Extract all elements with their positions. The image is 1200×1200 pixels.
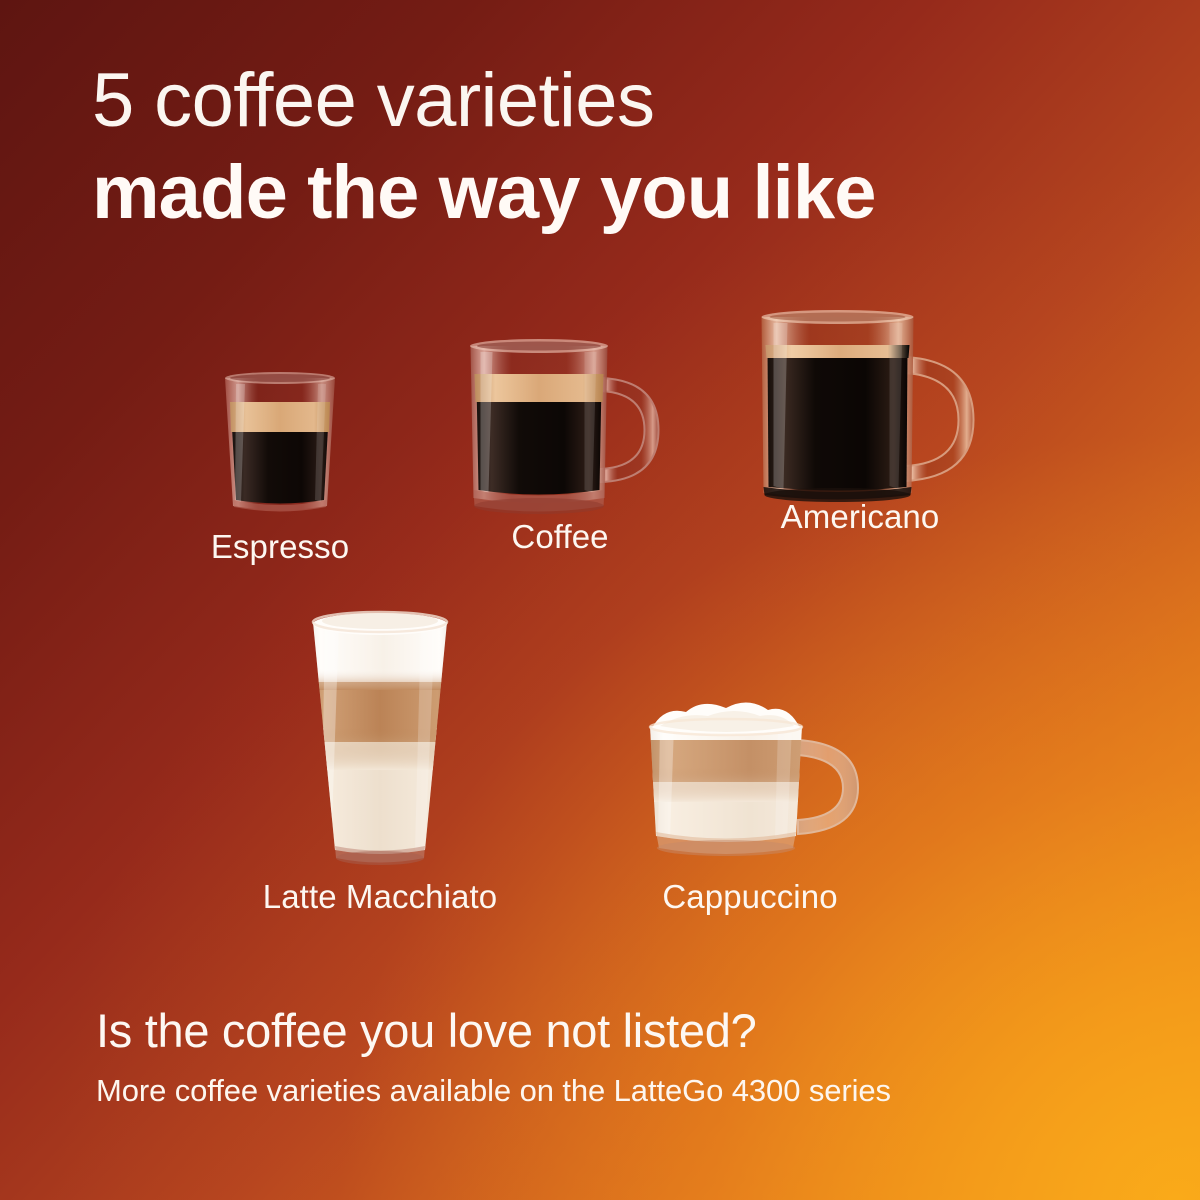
espresso-glass-icon	[205, 360, 355, 520]
latte-macchiato-glass-icon	[295, 608, 465, 870]
drink-item-coffee: Coffee	[435, 320, 685, 520]
drink-label-cappuccino: Cappuccino	[662, 878, 837, 916]
drink-label-espresso: Espresso	[211, 528, 349, 566]
headline-block: 5 coffee varieties made the way you like	[92, 62, 1132, 234]
cappuccino-cup-icon	[630, 698, 870, 870]
coffee-mug-icon	[453, 330, 668, 520]
headline-line-1: 5 coffee varieties	[92, 62, 1132, 140]
drink-item-espresso: Espresso	[175, 330, 385, 520]
footer-note: More coffee varieties available on the L…	[96, 1073, 1126, 1109]
footer-question: Is the coffee you love not listed?	[96, 1005, 1126, 1057]
drink-label-latte-macchiato: Latte Macchiato	[263, 878, 497, 916]
drink-item-americano: Americano	[715, 300, 1005, 520]
poster: 5 coffee varieties made the way you like	[0, 0, 1200, 1200]
footer-block: Is the coffee you love not listed? More …	[96, 1005, 1126, 1108]
drink-label-americano: Americano	[781, 498, 940, 536]
drink-label-coffee: Coffee	[511, 518, 608, 556]
headline-line-2: made the way you like	[92, 152, 1132, 234]
drink-item-latte-macchiato: Latte Macchiato	[255, 600, 505, 870]
americano-mug-icon	[738, 305, 983, 520]
drink-item-cappuccino: Cappuccino	[605, 690, 895, 870]
